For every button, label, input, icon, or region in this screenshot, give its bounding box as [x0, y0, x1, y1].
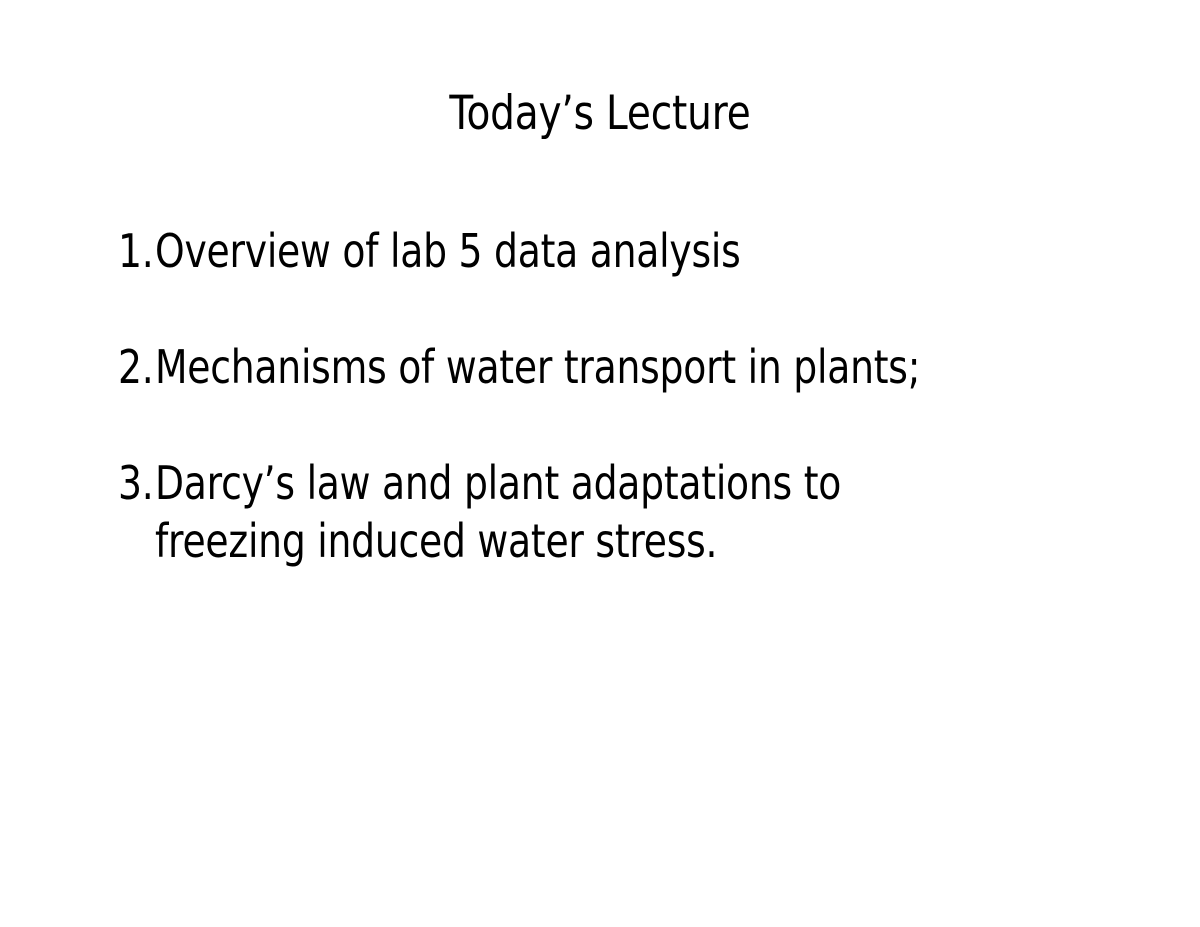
- list-item-number: 3.: [118, 454, 148, 512]
- numbered-list: 1. Overview of lab 5 data analysis 2. Me…: [118, 222, 1108, 570]
- list-item-label: Darcy’s law and plant adaptations to fre…: [155, 454, 936, 570]
- list-item: 2. Mechanisms of water transport in plan…: [118, 338, 1108, 396]
- list-item-number: 2.: [118, 338, 148, 396]
- list-item-number: 1.: [118, 222, 148, 280]
- list-item-label: Mechanisms of water transport in plants;: [155, 338, 936, 396]
- list-item: 3. Darcy’s law and plant adaptations to …: [118, 454, 1108, 570]
- page-title: Today’s Lecture: [102, 86, 1098, 141]
- list-item-label: Overview of lab 5 data analysis: [155, 222, 936, 280]
- list-item: 1. Overview of lab 5 data analysis: [118, 222, 1108, 280]
- slide: Today’s Lecture 1. Overview of lab 5 dat…: [0, 0, 1200, 927]
